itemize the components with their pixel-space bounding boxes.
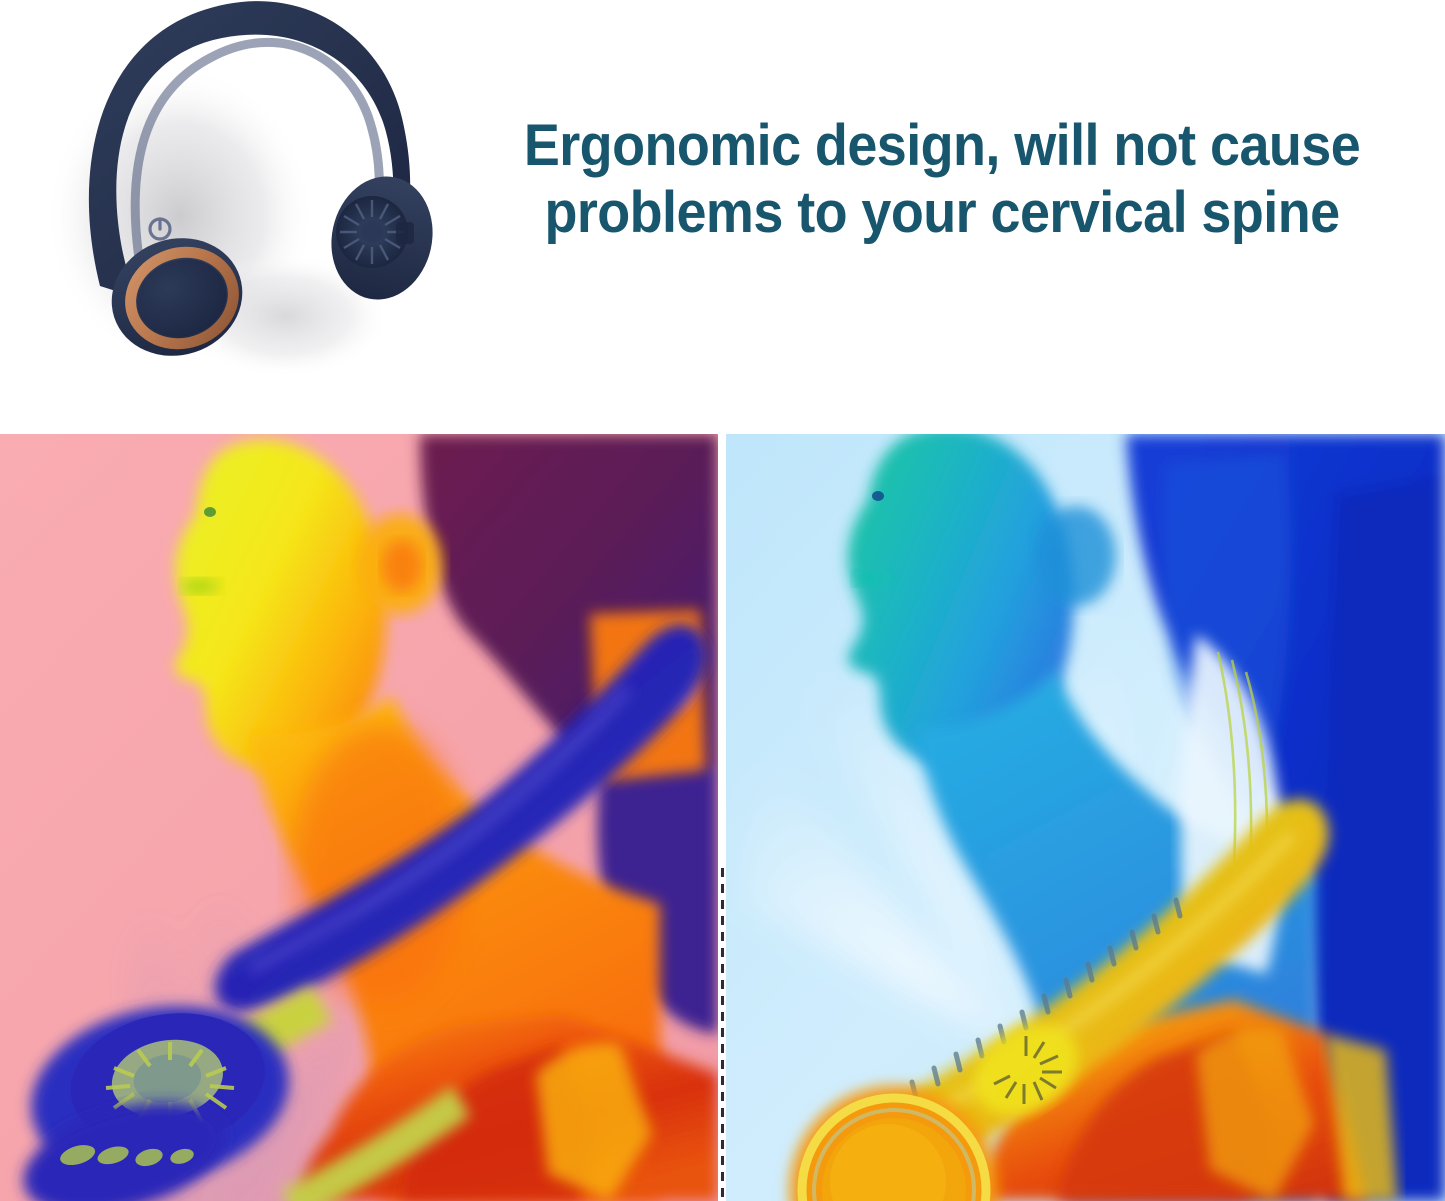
panel-divider — [718, 868, 726, 1201]
divider-dashed-line — [721, 868, 724, 1201]
headline-line-1: Ergonomic design, will not cause — [524, 113, 1360, 178]
page-headline: Ergonomic design, will not cause problem… — [486, 112, 1397, 247]
hero-band: Ergonomic design, will not cause problem… — [0, 0, 1445, 434]
thermal-panel-left — [0, 434, 718, 1201]
product-marketing-image: Ergonomic design, will not cause problem… — [0, 0, 1445, 1201]
headline-line-2: problems to your cervical spine — [486, 179, 1397, 246]
thermal-panel-right — [726, 434, 1445, 1201]
product-photo-neck-fan — [30, 0, 460, 406]
thermal-comparison — [0, 434, 1445, 1201]
